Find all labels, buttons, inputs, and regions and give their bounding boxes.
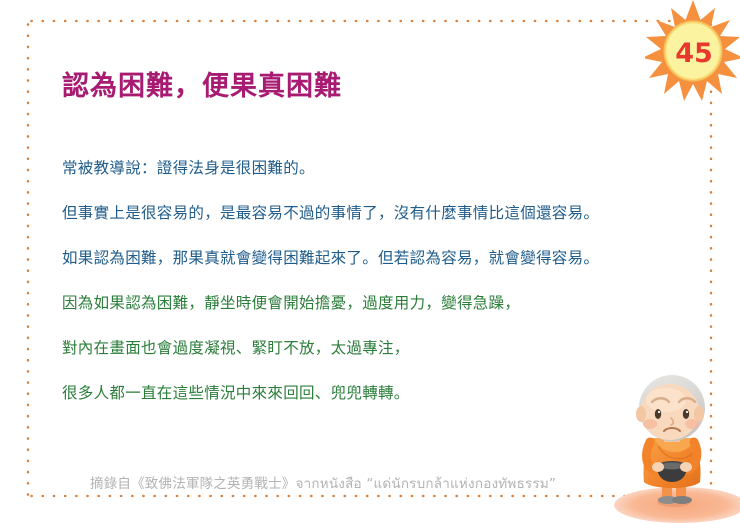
body-line-3: 如果認為困難，那果真就會變得困難起來了。但若認為容易，就會變得容易。 [62, 249, 692, 294]
source-citation: 摘錄自《致佛法軍隊之英勇戰士》จากหนังสือ “แด่นักรบกล้าแ… [90, 472, 556, 494]
sun-burst-icon: 45 [645, 0, 740, 104]
body-line-4: 因為如果認為困難，靜坐時便會開始擔憂，過度用力，變得急躁， [62, 294, 692, 339]
dotted-border-top-icon [26, 19, 712, 23]
body-line-1: 常被教導說：證得法身是很困難的。 [62, 159, 692, 204]
dotted-border-left-icon [26, 19, 30, 497]
slide-canvas: 45 認為困難，便果真困難 常被教導說：證得法身是很困難的。 但事實上是很容易的… [0, 0, 740, 523]
page-number-badge: 45 [645, 0, 740, 104]
monk-character-icon [596, 372, 740, 523]
body-line-2: 但事實上是很容易的，是最容易不過的事情了，沒有什麼事情比這個還容易。 [62, 204, 692, 249]
page-title: 認為困難，便果真困難 [62, 64, 342, 103]
